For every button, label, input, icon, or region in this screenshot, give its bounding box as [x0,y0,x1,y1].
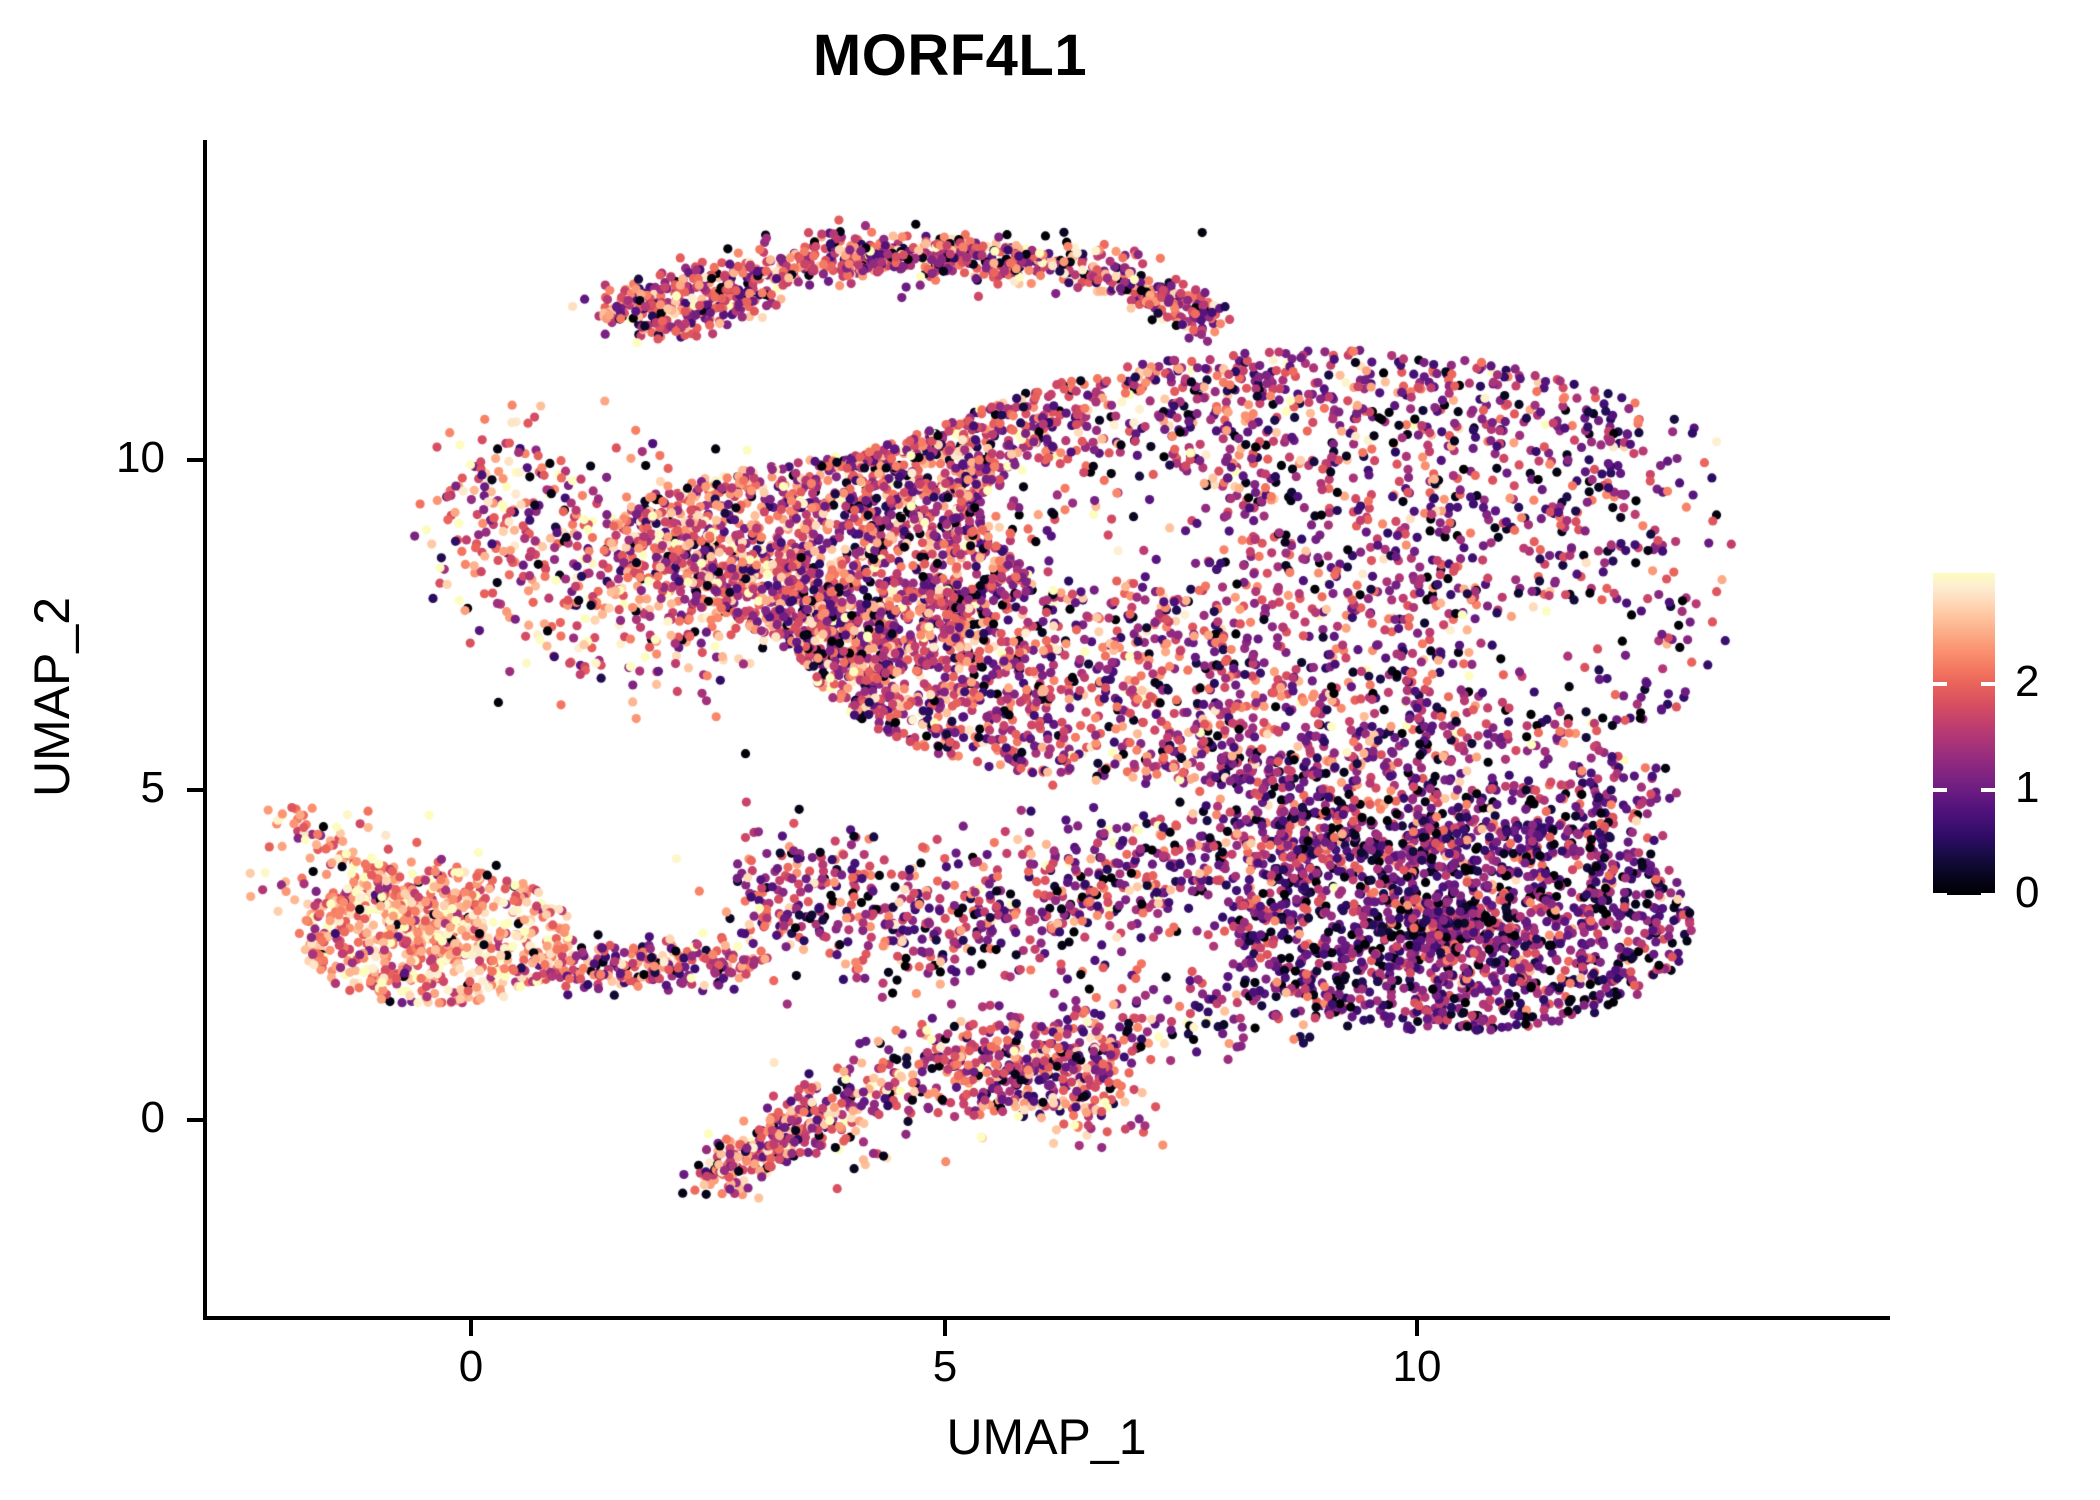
color-legend: 2 1 0 [1933,573,2100,903]
x-axis-line [203,1316,1890,1320]
y-axis-title: UMAP_2 [23,377,81,1017]
color-legend-bar [1933,573,1995,895]
legend-label-0: 0 [2015,868,2100,918]
legend-tick-1 [1933,788,1995,792]
y-tick-label-0: 0 [55,1093,165,1143]
page-title: MORF4L1 [0,22,1900,89]
x-tick-label-5: 5 [885,1342,1005,1392]
y-axis-line [203,140,207,1320]
x-tick-0 [469,1320,473,1336]
x-tick-label-10: 10 [1357,1342,1477,1392]
y-tick-0 [187,1118,203,1122]
y-tick-5 [187,788,203,792]
y-tick-10 [187,458,203,462]
legend-tick-0 [1933,893,1995,897]
legend-tick-2 [1933,682,1995,686]
legend-label-2: 2 [2015,657,2100,707]
x-tick-5 [943,1320,947,1336]
umap-feature-plot: MORF4L1 10 5 0 0 5 10 UMAP_1 UMAP_2 2 1 … [0,0,2100,1500]
legend-label-1: 1 [2015,763,2100,813]
x-axis-title: UMAP_1 [203,1408,1890,1466]
x-tick-10 [1415,1320,1419,1336]
x-tick-label-0: 0 [411,1342,531,1392]
scatter-points-layer [205,140,1890,1318]
